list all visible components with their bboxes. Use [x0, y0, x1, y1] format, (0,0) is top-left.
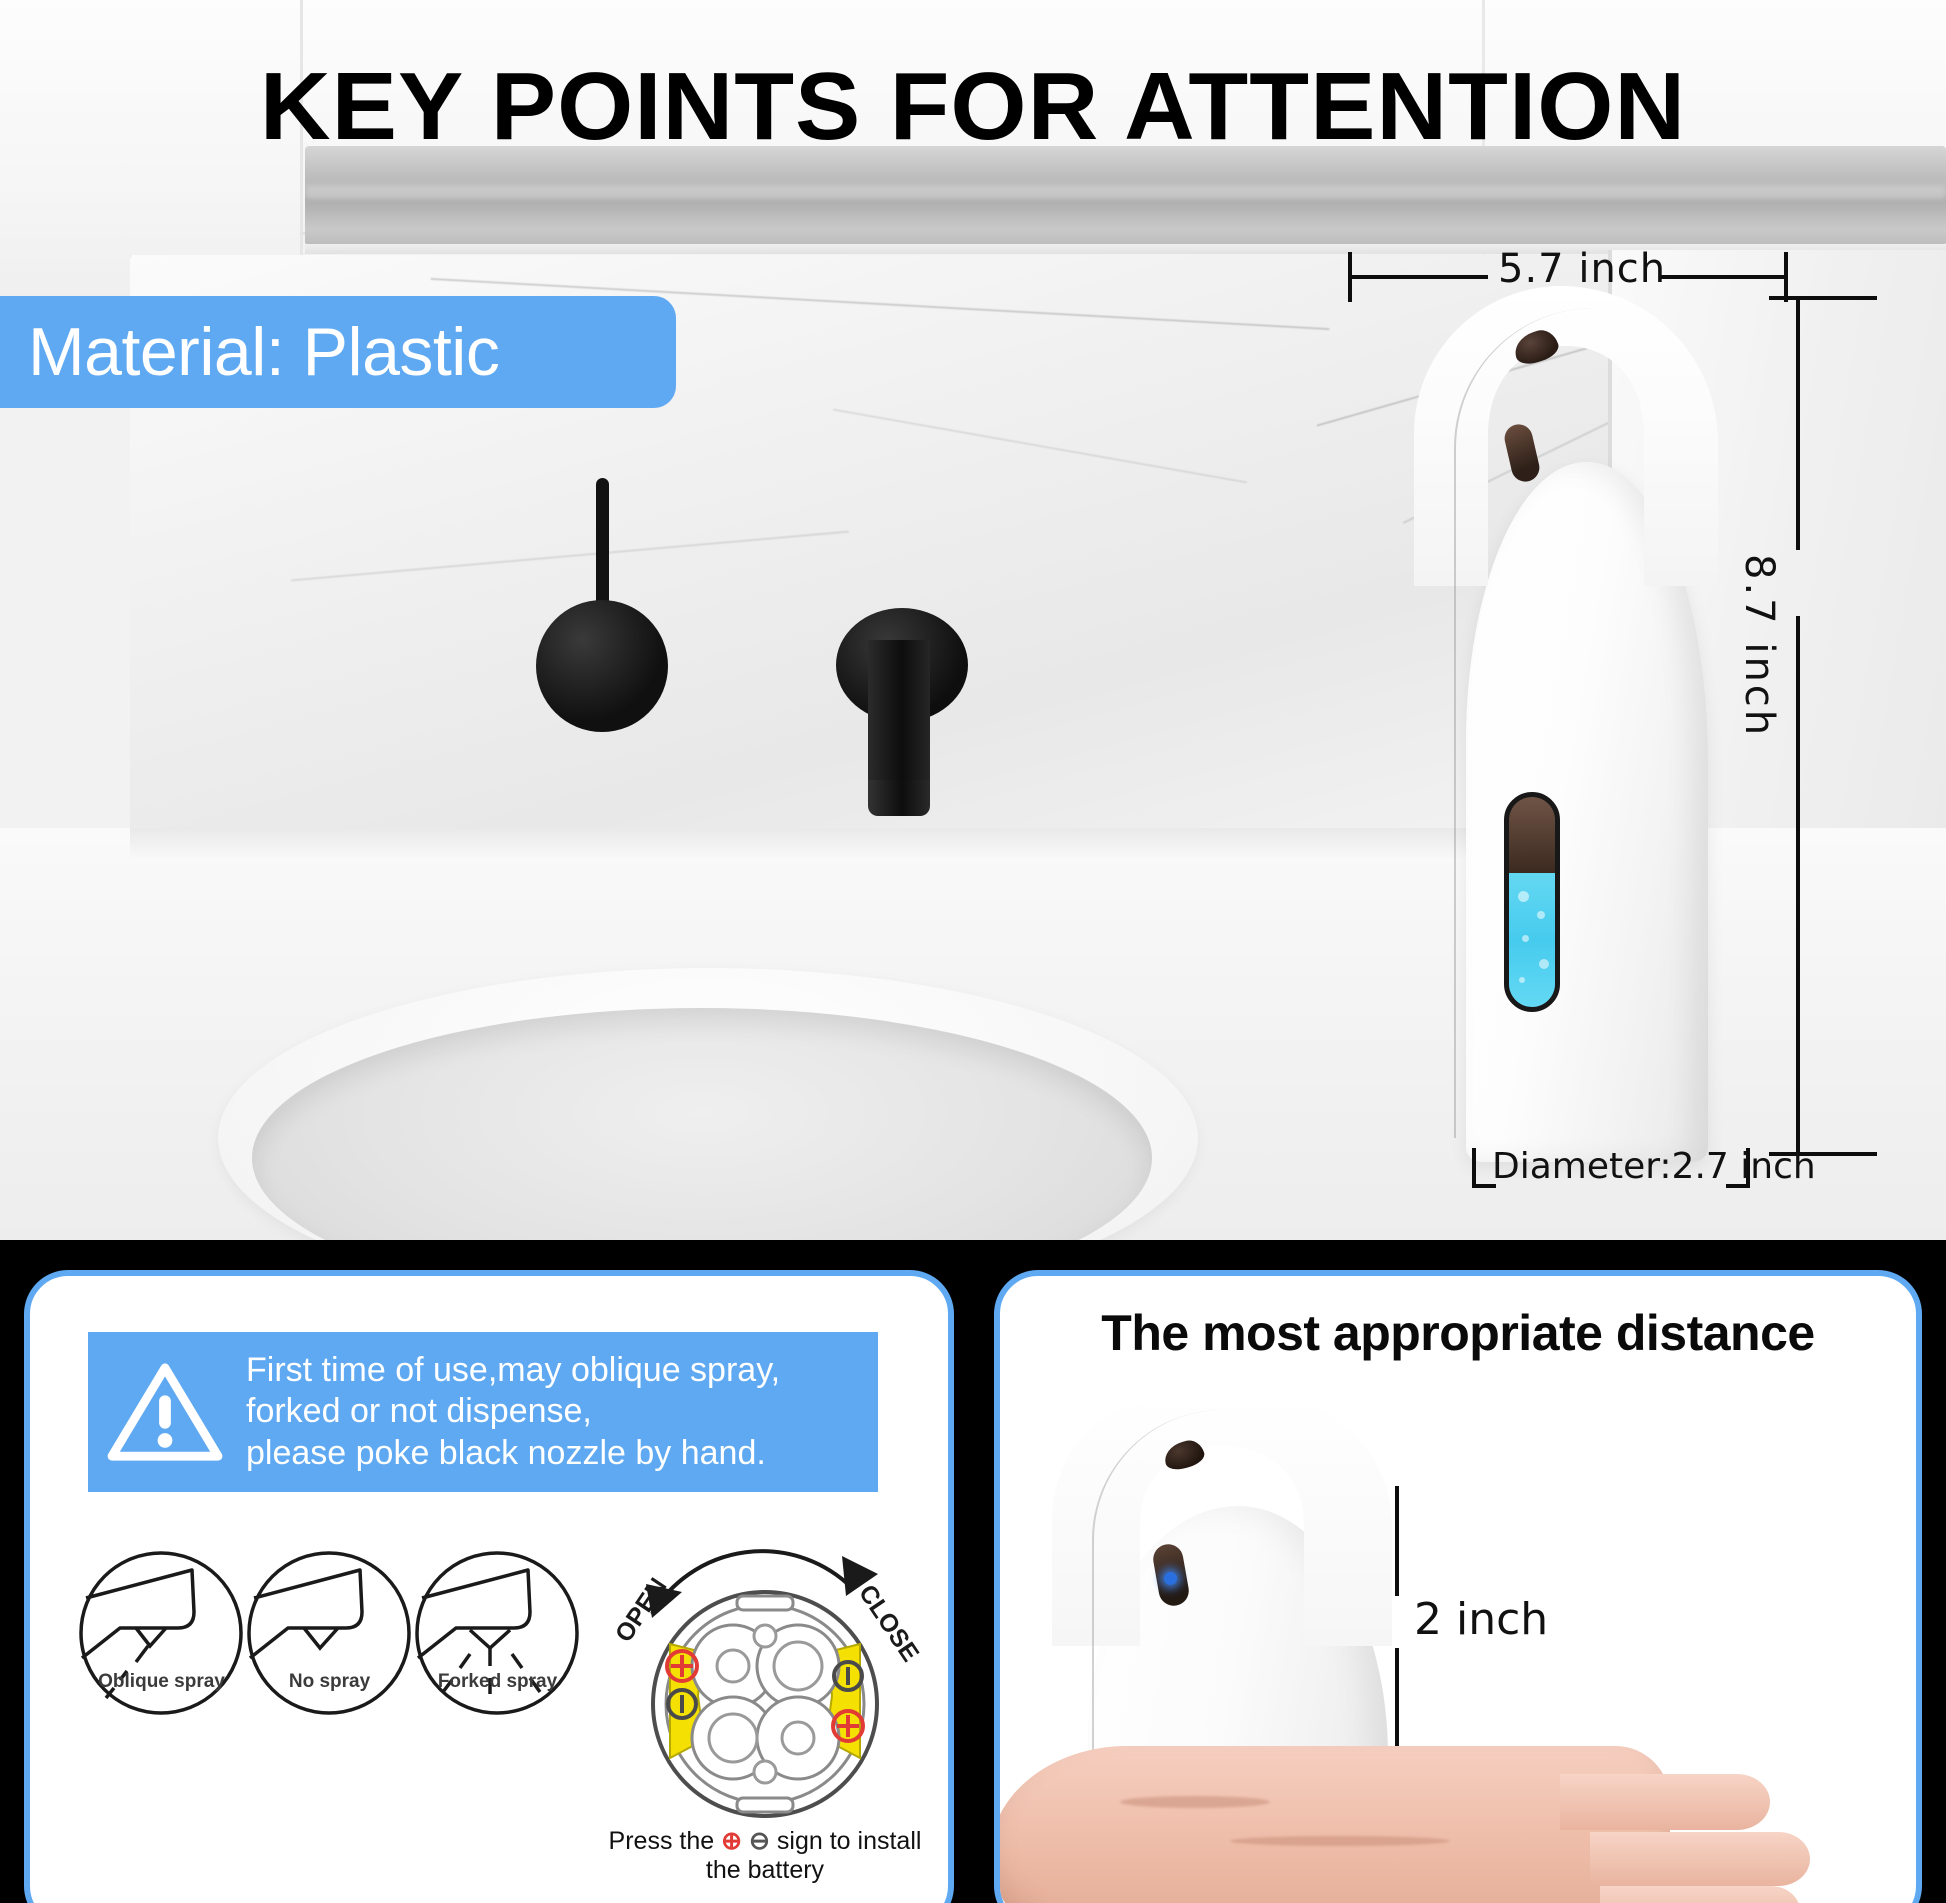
spray-diagram-oblique: Oblique spray: [74, 1546, 249, 1746]
dim-bar-left: [1348, 275, 1488, 279]
polarity-plus-left: [667, 1651, 697, 1681]
spray-caption: No spray: [242, 1671, 417, 1693]
palm-crease: [1120, 1796, 1270, 1808]
plus-sign-glyph: ⊕: [721, 1827, 742, 1855]
diameter-dimension-label: Diameter:2.7 inch: [1492, 1146, 1816, 1187]
infographic-page: 5.7 inch 8.7 inch Diameter:2.7 inch Mate…: [0, 0, 1946, 1903]
page-title: KEY POINTS FOR ATTENTION: [0, 52, 1946, 162]
marble-vein: [291, 531, 849, 582]
finger: [1600, 1886, 1800, 1903]
product-photo-section: 5.7 inch 8.7 inch Diameter:2.7 inch Mate…: [0, 0, 1946, 1240]
oblique-spray-illustration: [74, 1546, 249, 1721]
bubble: [1537, 911, 1545, 919]
forked-spray-illustration: [410, 1546, 585, 1721]
bubble: [1519, 977, 1525, 983]
polarity-plus-right: [833, 1711, 863, 1741]
battery-compartment-illustration: OPEN CLOSE: [590, 1526, 940, 1836]
counter-lip: [130, 828, 1608, 858]
distance-bar-top: [1395, 1486, 1399, 1596]
soap-level-window: [1504, 792, 1560, 1012]
spray-caption: Forked spray: [410, 1671, 585, 1693]
marble-vein: [833, 409, 1247, 484]
material-badge: Material: Plastic: [0, 296, 676, 408]
spray-caption: Oblique spray: [74, 1671, 249, 1693]
battery-install-diagram: OPEN CLOSE: [590, 1526, 940, 1896]
warning-triangle-icon: [106, 1360, 224, 1464]
material-badge-label: Material: Plastic: [28, 313, 499, 391]
dim-bar-bottom: [1796, 616, 1800, 1156]
battery-caption-before: Press the: [609, 1827, 715, 1855]
sensor-led-indicator: [1164, 1572, 1177, 1585]
open-label: OPEN: [610, 1573, 673, 1647]
warning-line-1: First time of use,may oblique spray,: [246, 1350, 780, 1391]
faucet-spout-tip: [868, 780, 930, 816]
minus-sign-glyph: ⊖: [749, 1827, 770, 1855]
faucet-handle-knob: [536, 600, 668, 732]
dim-endcap-top: [1769, 296, 1877, 300]
spray-diagram-none: No spray: [242, 1546, 417, 1746]
height-dimension-label: 8.7 inch: [1742, 554, 1782, 738]
width-dimension-label: 5.7 inch: [1498, 246, 1666, 292]
dim-endcap-right: [1784, 252, 1788, 302]
bubble: [1539, 959, 1549, 969]
shelf-highlight: [305, 185, 1946, 199]
distance-label: 2 inch: [1414, 1594, 1548, 1645]
warning-banner: First time of use,may oblique spray, for…: [88, 1332, 878, 1492]
dim-bar-right: [1660, 275, 1788, 279]
warning-text: First time of use,may oblique spray, for…: [246, 1350, 780, 1474]
right-panel-title: The most appropriate distance: [1000, 1304, 1916, 1362]
spray-diagram-forked: Forked spray: [410, 1546, 585, 1746]
battery-caption: Press the ⊕ ⊖ sign to install the batter…: [590, 1826, 940, 1885]
finger: [1590, 1832, 1810, 1886]
warning-line-3: please poke black nozzle by hand.: [246, 1433, 780, 1474]
bubble: [1518, 891, 1529, 902]
dim-bar-top: [1796, 296, 1800, 550]
no-spray-illustration: [242, 1546, 417, 1721]
dispenser-seam-line: [1454, 308, 1704, 1138]
diam-endcap-left: [1472, 1148, 1476, 1188]
finger: [1560, 1774, 1770, 1830]
soap-dispenser-product: [1418, 292, 1708, 1162]
panel-first-use-instructions: First time of use,may oblique spray, for…: [24, 1270, 954, 1903]
bubble: [1522, 935, 1529, 942]
palm-crease: [1230, 1836, 1450, 1846]
level-window-cap: [1509, 797, 1555, 873]
warning-line-2: forked or not dispense,: [246, 1391, 780, 1432]
soap-liquid-level: [1509, 873, 1555, 1007]
spray-diagram-row: Oblique spray No spray: [48, 1546, 568, 1806]
panel-appropriate-distance: The most appropriate distance 2 inch: [994, 1270, 1922, 1903]
